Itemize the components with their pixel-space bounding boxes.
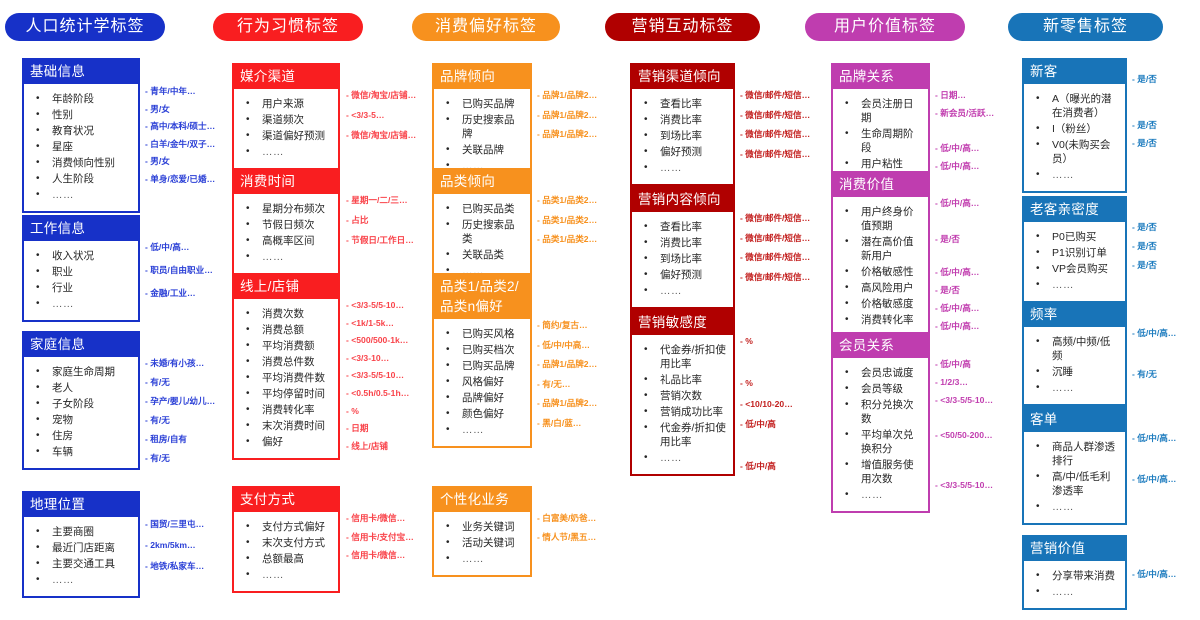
- card-title-basic-info: 基础信息: [24, 60, 138, 84]
- card-customer-order[interactable]: 客单•商品人群渗透排行•高/中/低毛利渗透率•……: [1022, 406, 1127, 525]
- list-item-label: ……: [660, 285, 682, 297]
- annotation-value: - 占比: [346, 215, 368, 226]
- list-item[interactable]: •消费倾向性别: [26, 155, 136, 171]
- list-item[interactable]: •查看比率: [634, 96, 731, 112]
- annotation-value: - 微信/邮件/短信…: [740, 90, 810, 101]
- list-item-label: 品牌偏好: [462, 392, 504, 404]
- card-geo-location[interactable]: 地理位置•主要商圈•最近门店距离•主要交通工具•……: [22, 491, 140, 598]
- list-item-label: 礼品比率: [660, 374, 702, 386]
- bullet-icon: •: [446, 113, 450, 127]
- card-frequency[interactable]: 频率•高频/中频/低频•沉睡•……: [1022, 301, 1127, 406]
- bullet-icon: •: [246, 536, 250, 550]
- list-item[interactable]: •沉睡: [1026, 364, 1123, 380]
- list-item-label: 代金券/折扣使用比率: [660, 344, 726, 370]
- list-item[interactable]: •关联品牌: [436, 142, 528, 158]
- annotation-value: - 是/否: [1132, 241, 1157, 252]
- list-item[interactable]: •生命周期阶段: [835, 126, 926, 156]
- bullet-icon: •: [1036, 246, 1040, 260]
- list-item[interactable]: •收入状况: [26, 248, 136, 264]
- list-item[interactable]: •……: [835, 487, 926, 503]
- list-item[interactable]: •业务关键词: [436, 519, 528, 535]
- list-item[interactable]: •主要商圈: [26, 524, 136, 540]
- card-category-n-preference[interactable]: 品类1/品类2/品类n偏好•已购买风格•已购买档次•已购买品牌•风格偏好•品牌偏…: [432, 273, 532, 448]
- list-item-label: 消费比率: [660, 114, 702, 126]
- list-item[interactable]: •价格敏感性: [835, 264, 926, 280]
- card-old-customer-intimacy[interactable]: 老客亲密度•P0已购买•P1识别订单•VP会员购买•……: [1022, 196, 1127, 303]
- annotation-value: - %: [346, 406, 359, 417]
- list-item-label: ……: [462, 424, 484, 436]
- list-item[interactable]: •代金券/折扣使用比率: [634, 420, 731, 450]
- annotation-value: - 新会员/活跃…: [935, 108, 994, 119]
- list-item[interactable]: •主要交通工具: [26, 556, 136, 572]
- bullet-icon: •: [246, 202, 250, 216]
- list-item[interactable]: •末次支付方式: [236, 535, 336, 551]
- annotation-value: - <3/3-5/5-10…: [346, 300, 404, 311]
- bullet-icon: •: [246, 403, 250, 417]
- list-item[interactable]: •关联品类: [436, 247, 528, 263]
- annotation-value: - <3/3-5…: [346, 110, 384, 121]
- list-item[interactable]: •价格敏感度: [835, 296, 926, 312]
- card-basic-info[interactable]: 基础信息•年龄阶段•性别•教育状况•星座•消费倾向性别•人生阶段•……: [22, 58, 140, 213]
- list-item-label: 会员等级: [861, 383, 903, 395]
- annotation-value: - 职员/自由职业…: [145, 265, 213, 276]
- list-item[interactable]: •查看比率: [634, 219, 731, 235]
- list-item-label: 用户来源: [262, 98, 304, 110]
- list-item[interactable]: •……: [1026, 380, 1123, 396]
- list-item[interactable]: •分享带来消费: [1026, 568, 1123, 584]
- list-item[interactable]: •……: [236, 567, 336, 583]
- list-item[interactable]: •……: [1026, 277, 1123, 293]
- list-item[interactable]: •平均停留时间: [236, 386, 336, 402]
- list-item[interactable]: •消费总件数: [236, 354, 336, 370]
- card-body-personalized-business: •业务关键词•活动关键词•……: [434, 512, 530, 575]
- list-item-label: ……: [660, 162, 682, 174]
- list-item[interactable]: •到场比率: [634, 251, 731, 267]
- list-item[interactable]: •……: [236, 144, 336, 160]
- bullet-icon: •: [845, 366, 849, 380]
- annotation-value: - 微信/淘宝/店铺…: [346, 90, 416, 101]
- list-item[interactable]: •平均消费件数: [236, 370, 336, 386]
- list-item[interactable]: •已购买风格: [436, 326, 528, 342]
- bullet-icon: •: [1036, 365, 1040, 379]
- list-item[interactable]: •礼品比率: [634, 372, 731, 388]
- list-item[interactable]: •……: [634, 450, 731, 466]
- list-item-label: 高概率区间: [262, 235, 315, 247]
- bullet-icon: •: [446, 248, 450, 262]
- bullet-icon: •: [845, 428, 849, 442]
- list-item-label: 消费转化率: [262, 404, 315, 416]
- list-item[interactable]: •代金券/折扣使用比率: [634, 342, 731, 372]
- card-title-marketing-sensitivity: 营销敏感度: [632, 311, 733, 335]
- bullet-icon: •: [1036, 122, 1040, 136]
- card-media-channel[interactable]: 媒介渠道•用户来源•渠道频次•渠道偏好预测•……: [232, 63, 340, 170]
- list-item[interactable]: •平均消费额: [236, 338, 336, 354]
- bullet-icon: •: [644, 161, 648, 175]
- list-item[interactable]: •……: [436, 551, 528, 567]
- bullet-icon: •: [246, 218, 250, 232]
- list-item[interactable]: •年龄阶段: [26, 91, 136, 107]
- list-item-label: 偏好: [262, 436, 283, 448]
- list-item-label: 消费总件数: [262, 356, 315, 368]
- annotation-value: - <50/50-200…: [935, 430, 993, 441]
- list-item[interactable]: •星座: [26, 139, 136, 155]
- bullet-icon: •: [845, 398, 849, 412]
- bullet-icon: •: [246, 250, 250, 264]
- bullet-icon: •: [845, 265, 849, 279]
- list-item-label: V0(未购买会员）: [1052, 139, 1110, 165]
- list-item[interactable]: •商品人群渗透排行: [1026, 439, 1123, 469]
- card-title-category-tendency: 品类倾向: [434, 170, 530, 194]
- list-item[interactable]: •颜色偏好: [436, 406, 528, 422]
- list-item-label: 消费倾向性别: [52, 157, 115, 169]
- list-item[interactable]: •性别: [26, 107, 136, 123]
- bullet-icon: •: [845, 157, 849, 171]
- bullet-icon: •: [446, 375, 450, 389]
- list-item[interactable]: •会员忠诚度: [835, 365, 926, 381]
- annotation-value: - 低/中/高…: [1132, 474, 1176, 485]
- card-body-media-channel: •用户来源•渠道频次•渠道偏好预测•……: [234, 89, 338, 168]
- card-body-member-relationship: •会员忠诚度•会员等级•积分兑换次数•平均单次兑换积分•增值服务使用次数•……: [833, 358, 928, 511]
- list-item[interactable]: •消费比率: [634, 112, 731, 128]
- list-item[interactable]: •高/中/低毛利渗透率: [1026, 469, 1123, 499]
- list-item-label: 会员注册日期: [861, 98, 914, 124]
- list-item[interactable]: •总额最高: [236, 551, 336, 567]
- card-payment-method[interactable]: 支付方式•支付方式偏好•末次支付方式•总额最高•……: [232, 486, 340, 593]
- list-item[interactable]: •VP会员购买: [1026, 261, 1123, 277]
- list-item[interactable]: •宠物: [26, 412, 136, 428]
- list-item[interactable]: •偏好预测: [634, 144, 731, 160]
- list-item-label: 主要商圈: [52, 526, 94, 538]
- bullet-icon: •: [446, 423, 450, 437]
- list-item-label: 渠道频次: [262, 114, 304, 126]
- list-item-label: 平均消费件数: [262, 372, 325, 384]
- card-marketing-value[interactable]: 营销价值•分享带来消费•……: [1022, 535, 1127, 610]
- list-item-label: ……: [1052, 586, 1074, 598]
- card-work-info[interactable]: 工作信息•收入状况•职业•行业•……: [22, 215, 140, 322]
- list-item-label: 消费次数: [262, 308, 304, 320]
- annotation-value: - 日期…: [935, 90, 966, 101]
- list-item[interactable]: •行业: [26, 280, 136, 296]
- list-item-label: 价格敏感性: [861, 266, 914, 278]
- category-column-consumption-preference: 品牌倾向•已购买品牌•历史搜索品牌•关联品牌•……品类倾向•已购买品类•历史搜索…: [410, 0, 605, 620]
- list-item[interactable]: •消费转化率: [835, 312, 926, 328]
- list-item-label: 关联品类: [462, 249, 504, 261]
- category-column-demographics: 基础信息•年龄阶段•性别•教育状况•星座•消费倾向性别•人生阶段•……工作信息•…: [0, 0, 210, 620]
- card-consumption-time[interactable]: 消费时间•星期分布频次•节假日频次•高概率区间•……: [232, 168, 340, 275]
- list-item[interactable]: •……: [236, 249, 336, 265]
- card-new-customer[interactable]: 新客•A（曝光的潜在消费者）•I（粉丝）•V0(未购买会员）•……: [1022, 58, 1127, 193]
- card-title-geo-location: 地理位置: [24, 493, 138, 517]
- card-title-consumption-time: 消费时间: [234, 170, 338, 194]
- card-category-tendency[interactable]: 品类倾向•已购买品类•历史搜索品类•关联品类•……: [432, 168, 532, 289]
- list-item[interactable]: •……: [634, 160, 731, 176]
- list-item[interactable]: •末次消费时间: [236, 418, 336, 434]
- annotation-value: - 高中/本科/硕士…: [145, 121, 215, 132]
- card-body-marketing-channel-tendency: •查看比率•消费比率•到场比率•偏好预测•……: [632, 89, 733, 184]
- list-item-label: 历史搜索品类: [462, 219, 515, 245]
- list-item[interactable]: •风格偏好: [436, 374, 528, 390]
- annotation-value: - 租房/自有: [145, 434, 187, 445]
- list-item[interactable]: •消费次数: [236, 306, 336, 322]
- list-item[interactable]: •到场比率: [634, 128, 731, 144]
- bullet-icon: •: [446, 143, 450, 157]
- card-title-category-n-preference: 品类1/品类2/品类n偏好: [434, 275, 530, 319]
- card-consumption-value[interactable]: 消费价值•用户终身价值预期•潜在高价值新用户•价格敏感性•高风险用户•价格敏感度…: [831, 171, 930, 338]
- card-title-family-info: 家庭信息: [24, 333, 138, 357]
- list-item[interactable]: •活动关键词: [436, 535, 528, 551]
- bullet-icon: •: [446, 202, 450, 216]
- list-item-label: 住房: [52, 430, 73, 442]
- bullet-icon: •: [36, 445, 40, 459]
- list-item[interactable]: •历史搜索品类: [436, 217, 528, 247]
- category-column-new-retail: 新客•A（曝光的潜在消费者）•I（粉丝）•V0(未购买会员）•……老客亲密度•P…: [1000, 0, 1200, 620]
- list-item[interactable]: •……: [1026, 499, 1123, 515]
- annotation-value: - 低/中/中高…: [537, 340, 590, 351]
- annotation-value: - <0.5h/0.5-1h…: [346, 388, 409, 399]
- list-item-label: 积分兑换次数: [861, 399, 914, 425]
- annotation-value: - 金融/工业…: [145, 288, 196, 299]
- card-body-old-customer-intimacy: •P0已购买•P1识别订单•VP会员购买•……: [1024, 222, 1125, 301]
- list-item[interactable]: •渠道偏好预测: [236, 128, 336, 144]
- annotation-value: - 2km/5km…: [145, 540, 196, 551]
- bullet-icon: •: [1036, 569, 1040, 583]
- list-item[interactable]: •历史搜索品牌: [436, 112, 528, 142]
- list-item[interactable]: •……: [1026, 167, 1123, 183]
- list-item-label: 营销成功比率: [660, 406, 723, 418]
- list-item[interactable]: •偏好: [236, 434, 336, 450]
- list-item-label: 渠道偏好预测: [262, 130, 325, 142]
- bullet-icon: •: [36, 397, 40, 411]
- bullet-icon: •: [845, 488, 849, 502]
- bullet-icon: •: [36, 188, 40, 202]
- annotation-value: - 信用卡/支付宝…: [346, 532, 414, 543]
- list-item-label: 高频/中频/低频: [1052, 336, 1110, 362]
- list-item[interactable]: •高概率区间: [236, 233, 336, 249]
- card-body-marketing-value: •分享带来消费•……: [1024, 561, 1125, 608]
- list-item[interactable]: •已购买品牌: [436, 96, 528, 112]
- list-item[interactable]: •偏好预测: [634, 267, 731, 283]
- bullet-icon: •: [36, 108, 40, 122]
- bullet-icon: •: [1036, 500, 1040, 514]
- card-family-info[interactable]: 家庭信息•家庭生命周期•老人•子女阶段•宠物•住房•车辆: [22, 331, 140, 470]
- list-item[interactable]: •已购买品牌: [436, 358, 528, 374]
- annotation-value: - 是/否: [1132, 222, 1157, 233]
- list-item[interactable]: •渠道频次: [236, 112, 336, 128]
- list-item-label: 关联品牌: [462, 144, 504, 156]
- card-marketing-channel-tendency[interactable]: 营销渠道倾向•查看比率•消费比率•到场比率•偏好预测•……: [630, 63, 735, 186]
- card-marketing-content-tendency[interactable]: 营销内容倾向•查看比率•消费比率•到场比率•偏好预测•……: [630, 186, 735, 309]
- list-item[interactable]: •支付方式偏好: [236, 519, 336, 535]
- bullet-icon: •: [246, 552, 250, 566]
- list-item[interactable]: •潜在高价值新用户: [835, 234, 926, 264]
- card-title-marketing-value: 营销价值: [1024, 537, 1125, 561]
- bullet-icon: •: [36, 265, 40, 279]
- bullet-icon: •: [446, 552, 450, 566]
- list-item-label: 营销次数: [660, 390, 702, 402]
- list-item-label: 已购买档次: [462, 344, 515, 356]
- list-item[interactable]: •子女阶段: [26, 396, 136, 412]
- card-marketing-sensitivity[interactable]: 营销敏感度•代金券/折扣使用比率•礼品比率•营销次数•营销成功比率•代金券/折扣…: [630, 309, 735, 476]
- bullet-icon: •: [36, 172, 40, 186]
- bullet-icon: •: [246, 339, 250, 353]
- bullet-icon: •: [845, 205, 849, 219]
- annotation-value: - 低/中/高: [740, 419, 776, 430]
- list-item[interactable]: •P0已购买: [1026, 229, 1123, 245]
- annotation-value: - <3/3-10…: [346, 353, 389, 364]
- bullet-icon: •: [644, 451, 648, 465]
- list-item-label: 风格偏好: [462, 376, 504, 388]
- list-item[interactable]: •积分兑换次数: [835, 397, 926, 427]
- bullet-icon: •: [1036, 440, 1040, 454]
- list-item-label: 到场比率: [660, 253, 702, 265]
- list-item[interactable]: •职业: [26, 264, 136, 280]
- bullet-icon: •: [644, 343, 648, 357]
- annotation-value: - 低/中/高…: [1132, 433, 1176, 444]
- list-item[interactable]: •……: [26, 187, 136, 203]
- bullet-icon: •: [845, 313, 849, 327]
- card-body-geo-location: •主要商圈•最近门店距离•主要交通工具•……: [24, 517, 138, 596]
- list-item-label: 星座: [52, 141, 73, 153]
- list-item[interactable]: •P1识别订单: [1026, 245, 1123, 261]
- bullet-icon: •: [845, 97, 849, 111]
- list-item[interactable]: •星期分布频次: [236, 201, 336, 217]
- list-item[interactable]: •消费比率: [634, 235, 731, 251]
- annotation-value: - %: [740, 336, 753, 347]
- list-item-label: 最近门店距离: [52, 542, 115, 554]
- list-item-label: 家庭生命周期: [52, 366, 115, 378]
- annotation-value: - %: [740, 378, 753, 389]
- bullet-icon: •: [446, 359, 450, 373]
- card-body-marketing-sensitivity: •代金券/折扣使用比率•礼品比率•营销次数•营销成功比率•代金券/折扣使用比率•…: [632, 335, 733, 474]
- list-item[interactable]: •用户来源: [236, 96, 336, 112]
- list-item[interactable]: •最近门店距离: [26, 540, 136, 556]
- card-body-online-store: •消费次数•消费总额•平均消费额•消费总件数•平均消费件数•平均停留时间•消费转…: [234, 299, 338, 458]
- list-item-label: 消费转化率: [861, 314, 914, 326]
- bullet-icon: •: [36, 525, 40, 539]
- list-item[interactable]: •人生阶段: [26, 171, 136, 187]
- list-item[interactable]: •……: [436, 422, 528, 438]
- bullet-icon: •: [644, 284, 648, 298]
- list-item[interactable]: •……: [26, 296, 136, 312]
- annotation-value: - 微信/邮件/短信…: [740, 110, 810, 121]
- bullet-icon: •: [246, 145, 250, 159]
- list-item-label: 人生阶段: [52, 173, 94, 185]
- list-item[interactable]: •用户终身价值预期: [835, 204, 926, 234]
- bullet-icon: •: [644, 268, 648, 282]
- list-item-label: P0已购买: [1052, 231, 1096, 243]
- annotation-value: - 低/中/高: [935, 359, 971, 370]
- list-item[interactable]: •增值服务使用次数: [835, 457, 926, 487]
- card-personalized-business[interactable]: 个性化业务•业务关键词•活动关键词•……: [432, 486, 532, 577]
- bullet-icon: •: [1036, 470, 1040, 484]
- list-item[interactable]: •……: [634, 283, 731, 299]
- list-item[interactable]: •用户粘性: [835, 156, 926, 172]
- list-item-label: 高风险用户: [861, 282, 914, 294]
- card-body-new-customer: •A（曝光的潜在消费者）•I（粉丝）•V0(未购买会员）•……: [1024, 84, 1125, 191]
- list-item-label: ……: [462, 553, 484, 565]
- annotation-value: - 品牌1/品牌2…: [537, 129, 597, 140]
- annotation-value: - <500/500-1k…: [346, 335, 408, 346]
- annotation-value: - 孕产/婴儿/幼儿…: [145, 396, 215, 407]
- annotation-value: - 低/中/高…: [935, 303, 979, 314]
- list-item[interactable]: •消费总额: [236, 322, 336, 338]
- annotation-value: - 白富美/奶爸…: [537, 513, 596, 524]
- list-item-label: 偏好预测: [660, 146, 702, 158]
- list-item[interactable]: •消费转化率: [236, 402, 336, 418]
- list-item[interactable]: •……: [1026, 584, 1123, 600]
- card-body-payment-method: •支付方式偏好•末次支付方式•总额最高•……: [234, 512, 338, 591]
- list-item[interactable]: •会员注册日期: [835, 96, 926, 126]
- card-title-online-store: 线上/店铺: [234, 275, 338, 299]
- list-item[interactable]: •A（曝光的潜在消费者）: [1026, 91, 1123, 121]
- bullet-icon: •: [36, 124, 40, 138]
- list-item-label: ……: [861, 489, 883, 501]
- card-online-store[interactable]: 线上/店铺•消费次数•消费总额•平均消费额•消费总件数•平均消费件数•平均停留时…: [232, 273, 340, 460]
- card-brand-tendency[interactable]: 品牌倾向•已购买品牌•历史搜索品牌•关联品牌•……: [432, 63, 532, 184]
- list-item-label: ……: [52, 189, 74, 201]
- list-item[interactable]: •老人: [26, 380, 136, 396]
- annotation-value: - 线上/店铺: [346, 441, 388, 452]
- card-title-marketing-channel-tendency: 营销渠道倾向: [632, 65, 733, 89]
- list-item-label: 子女阶段: [52, 398, 94, 410]
- list-item[interactable]: •车辆: [26, 444, 136, 460]
- list-item[interactable]: •已购买档次: [436, 342, 528, 358]
- list-item-label: A（曝光的潜在消费者）: [1052, 93, 1112, 119]
- list-item[interactable]: •会员等级: [835, 381, 926, 397]
- bullet-icon: •: [446, 391, 450, 405]
- list-item[interactable]: •已购买品类: [436, 201, 528, 217]
- bullet-icon: •: [246, 355, 250, 369]
- list-item-label: ……: [262, 251, 284, 263]
- list-item-label: 价格敏感度: [861, 298, 914, 310]
- list-item[interactable]: •……: [26, 572, 136, 588]
- list-item[interactable]: •节假日频次: [236, 217, 336, 233]
- list-item[interactable]: •住房: [26, 428, 136, 444]
- list-item[interactable]: •教育状况: [26, 123, 136, 139]
- list-item[interactable]: •V0(未购买会员）: [1026, 137, 1123, 167]
- annotation-value: - <3/3-5/5-10…: [346, 370, 404, 381]
- list-item[interactable]: •平均单次兑换积分: [835, 427, 926, 457]
- bullet-icon: •: [1036, 138, 1040, 152]
- list-item[interactable]: •品牌偏好: [436, 390, 528, 406]
- list-item-label: ……: [262, 569, 284, 581]
- bullet-icon: •: [644, 421, 648, 435]
- bullet-icon: •: [246, 520, 250, 534]
- list-item[interactable]: •高频/中频/低频: [1026, 334, 1123, 364]
- list-item-label: ……: [660, 452, 682, 464]
- annotation-value: - 低/中/高: [740, 461, 776, 472]
- annotation-value: - 节假日/工作日…: [346, 235, 414, 246]
- card-title-payment-method: 支付方式: [234, 488, 338, 512]
- annotation-value: - 有/无…: [537, 379, 570, 390]
- list-item-label: 宠物: [52, 414, 73, 426]
- bullet-icon: •: [845, 297, 849, 311]
- bullet-icon: •: [246, 307, 250, 321]
- list-item[interactable]: •营销次数: [634, 388, 731, 404]
- list-item[interactable]: •家庭生命周期: [26, 364, 136, 380]
- list-item-label: P1识别订单: [1052, 247, 1107, 259]
- list-item-label: ……: [262, 146, 284, 158]
- annotation-value: - 低/中/高…: [935, 161, 979, 172]
- list-item-label: ……: [52, 574, 74, 586]
- list-item[interactable]: •高风险用户: [835, 280, 926, 296]
- annotation-value: - 信用卡/微信…: [346, 513, 405, 524]
- list-item[interactable]: •营销成功比率: [634, 404, 731, 420]
- annotation-value: - 单身/恋爱/已婚…: [145, 174, 215, 185]
- card-title-media-channel: 媒介渠道: [234, 65, 338, 89]
- card-member-relationship[interactable]: 会员关系•会员忠诚度•会员等级•积分兑换次数•平均单次兑换积分•增值服务使用次数…: [831, 332, 930, 513]
- list-item[interactable]: •I（粉丝）: [1026, 121, 1123, 137]
